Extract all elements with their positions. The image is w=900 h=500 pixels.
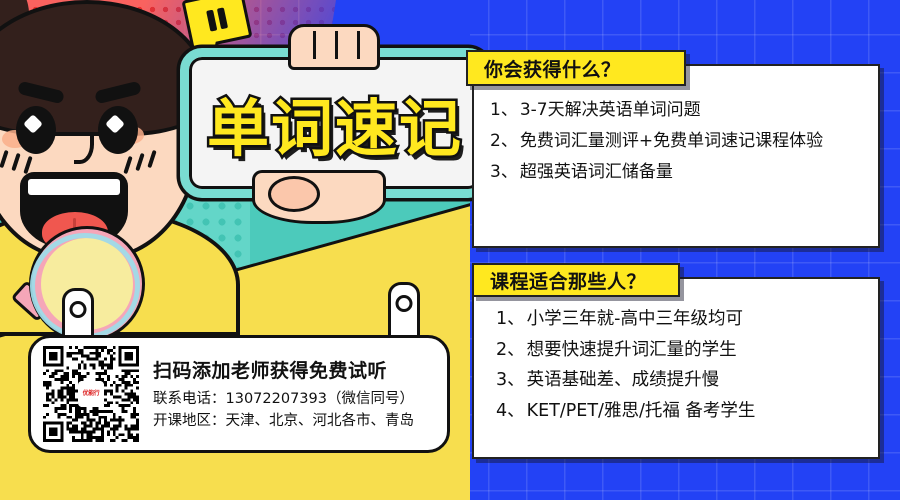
list-item-number: 1、: [496, 311, 525, 329]
contact-card[interactable]: 优能行 扫码添加老师获得免费试听 联系电话：13072207393（微信同号） …: [28, 335, 450, 453]
list-item: 2、 免费词汇量测评+免费单词速记课程体验: [490, 133, 823, 150]
list-item-number: 2、: [490, 133, 518, 150]
audience-panel: 课程适合那些人？ 1、 小学三年就-高中三年级均可 2、 想要快速提升词汇量的学…: [466, 263, 884, 461]
mascot-blush-left: [2, 150, 36, 174]
list-item-text: KET/PET/雅思/托福 备考学生: [527, 403, 756, 421]
mascot-eye-left: [16, 106, 56, 154]
list-item-text: 免费词汇量测评+免费单词速记课程体验: [520, 133, 823, 150]
list-item-text: 英语基础差、成绩提升慢: [527, 372, 720, 390]
mascot-thumb: [268, 176, 320, 212]
list-item-text: 小学三年就-高中三年级均可: [527, 311, 743, 329]
list-item-number: 1、: [490, 102, 518, 119]
benefits-heading-tag: 你会获得什么？: [466, 50, 686, 86]
contact-title: 扫码添加老师获得免费试听: [153, 356, 414, 383]
list-item-text: 超强英语词汇储备量: [520, 164, 673, 181]
contact-phone: 联系电话：13072207393（微信同号）: [153, 389, 414, 411]
page-title: 单词速记: [207, 78, 463, 168]
audience-heading: 课程适合那些人？: [490, 267, 646, 294]
list-item-text: 3-7天解决英语单词问题: [520, 102, 701, 119]
poster-canvas: 优能行 扫码添加老师获得免费试听 联系电话：13072207393（微信同号） …: [0, 0, 900, 500]
list-item: 2、 想要快速提升词汇量的学生: [496, 342, 755, 360]
list-item: 3、 英语基础差、成绩提升慢: [496, 372, 755, 390]
benefits-heading: 你会获得什么？: [484, 55, 621, 82]
list-item-number: 2、: [496, 342, 525, 360]
benefits-list: 1、 3-7天解决英语单词问题 2、 免费词汇量测评+免费单词速记课程体验 3、…: [490, 102, 823, 195]
benefits-panel: 你会获得什么？ 1、 3-7天解决英语单词问题 2、 免费词汇量测评+免费单词速…: [466, 50, 884, 250]
audience-heading-tag: 课程适合那些人？: [472, 263, 680, 297]
mascot-eye-right: [98, 106, 138, 154]
list-item-text: 想要快速提升词汇量的学生: [527, 342, 737, 360]
mascot-teeth: [28, 179, 120, 195]
list-item: 4、 KET/PET/雅思/托福 备考学生: [496, 403, 755, 421]
contact-region: 开课地区：天津、北京、河北各市、青岛: [153, 411, 414, 433]
list-item-number: 3、: [490, 164, 518, 181]
contact-text-block: 扫码添加老师获得免费试听 联系电话：13072207393（微信同号） 开课地区…: [139, 356, 414, 433]
list-item-number: 3、: [496, 372, 525, 390]
mascot-hand-top: [288, 24, 380, 70]
list-item-number: 4、: [496, 403, 525, 421]
list-item: 1、 小学三年就-高中三年级均可: [496, 311, 755, 329]
list-item: 3、 超强英语词汇储备量: [490, 164, 823, 181]
qr-code[interactable]: 优能行: [43, 346, 139, 442]
yellow-bottom-strip: [0, 450, 470, 500]
qr-center-logo: 优能行: [78, 381, 104, 407]
list-item: 1、 3-7天解决英语单词问题: [490, 102, 823, 119]
audience-list: 1、 小学三年就-高中三年级均可 2、 想要快速提升词汇量的学生 3、 英语基础…: [496, 311, 755, 433]
mascot-blush-right: [126, 150, 160, 174]
